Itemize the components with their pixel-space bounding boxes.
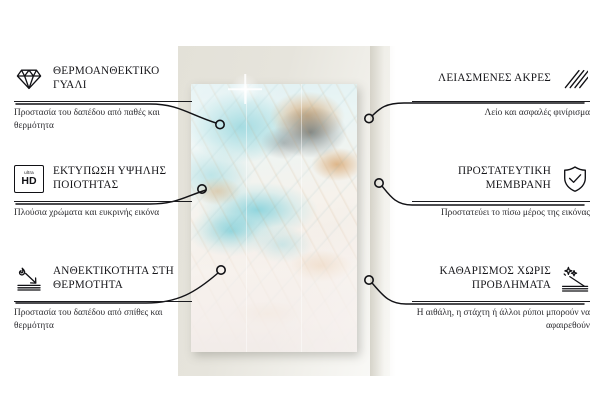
feature-title: ΑΝΘΕΚΤΙΚΟΤΗΤΑ ΣΤΗ ΘΕΡΜΟΤΗΤΑ bbox=[53, 265, 192, 293]
artwork-glass-sheen bbox=[191, 84, 357, 352]
shield-check-icon bbox=[560, 164, 590, 194]
divider bbox=[14, 201, 192, 202]
feature-title: ΕΚΤΥΠΩΣΗ ΥΨΗΛΗΣ ΠΟΙΟΤΗΤΑΣ bbox=[53, 165, 192, 193]
divider bbox=[412, 201, 590, 202]
feature-header: ΑΝΘΕΚΤΙΚΟΤΗΤΑ ΣΤΗ ΘΕΡΜΟΤΗΤΑ bbox=[14, 262, 192, 296]
divider bbox=[14, 101, 192, 102]
diamond-icon bbox=[14, 64, 44, 94]
feature-body: Πλούσια χρώματα και ευκρινής εικόνα bbox=[14, 207, 192, 220]
feature-title: ΛΕΙΑΣΜΕΝΕΣ ΑΚΡΕΣ bbox=[438, 72, 551, 86]
feature-title: ΘΕΡΜΟΑΝΘΕΚΤΙΚΟ ΓΥΑΛΙ bbox=[53, 65, 192, 93]
divider bbox=[412, 301, 590, 302]
infographic-canvas: ΘΕΡΜΟΑΝΘΕΚΤΙΚΟ ΓΥΑΛΙ Προστασία του δαπέδ… bbox=[0, 0, 600, 400]
ultra-hd-badge-main: HD bbox=[21, 176, 36, 187]
heat-deflect-icon bbox=[14, 264, 44, 294]
feature-high-quality-print: ultra HD ΕΚΤΥΠΩΣΗ ΥΨΗΛΗΣ ΠΟΙΟΤΗΤΑΣ Πλούσ… bbox=[14, 162, 192, 220]
feature-header: ultra HD ΕΚΤΥΠΩΣΗ ΥΨΗΛΗΣ ΠΟΙΟΤΗΤΑΣ bbox=[14, 162, 192, 196]
feature-body: Προστασία του δαπέδου από παθές και θερμ… bbox=[14, 107, 192, 133]
feature-heatproof-glass: ΘΕΡΜΟΑΝΘΕΚΤΙΚΟ ΓΥΑΛΙ Προστασία του δαπέδ… bbox=[14, 62, 192, 133]
ultra-hd-badge-icon: ultra HD bbox=[14, 164, 44, 194]
polished-edges-icon bbox=[560, 64, 590, 94]
feature-easy-cleaning: ΚΑΘΑΡΙΣΜΟΣ ΧΩΡΙΣ ΠΡΟΒΛΗΜΑΤΑ Η αιθάλη, η … bbox=[412, 262, 590, 333]
feature-body: Προστατεύει το πίσω μέρος της εικόνας bbox=[412, 207, 590, 220]
feature-protective-film: ΠΡΟΣΤΑΤΕΥΤΙΚΗ ΜΕΜΒΡΑΝΗ Προστατεύει το πί… bbox=[412, 162, 590, 220]
feature-header: ΛΕΙΑΣΜΕΝΕΣ ΑΚΡΕΣ bbox=[412, 62, 590, 96]
feature-header: ΘΕΡΜΟΑΝΘΕΚΤΙΚΟ ΓΥΑΛΙ bbox=[14, 62, 192, 96]
wall-panel-shadow bbox=[370, 46, 396, 376]
divider bbox=[14, 301, 192, 302]
sparkle-clean-icon bbox=[560, 264, 590, 294]
feature-title: ΠΡΟΣΤΑΤΕΥΤΙΚΗ ΜΕΜΒΡΑΝΗ bbox=[412, 165, 551, 193]
divider bbox=[412, 101, 590, 102]
feature-body: Προστασία του δαπέδου από σπίθες και θερ… bbox=[14, 307, 192, 333]
product-artwork bbox=[191, 84, 357, 352]
feature-body: Η αιθάλη, η στάχτη ή άλλοι ρύποι μπορούν… bbox=[412, 307, 590, 333]
artwork-panel-seam bbox=[301, 84, 302, 352]
feature-header: ΚΑΘΑΡΙΣΜΟΣ ΧΩΡΙΣ ΠΡΟΒΛΗΜΑΤΑ bbox=[412, 262, 590, 296]
feature-title: ΚΑΘΑΡΙΣΜΟΣ ΧΩΡΙΣ ΠΡΟΒΛΗΜΑΤΑ bbox=[412, 265, 551, 293]
feature-body: Λείο και ασφαλές φινίρισμα bbox=[412, 107, 590, 120]
feature-header: ΠΡΟΣΤΑΤΕΥΤΙΚΗ ΜΕΜΒΡΑΝΗ bbox=[412, 162, 590, 196]
feature-polished-edges: ΛΕΙΑΣΜΕΝΕΣ ΑΚΡΕΣ Λείο και ασφαλές φινίρι… bbox=[412, 62, 590, 120]
feature-heat-resistance: ΑΝΘΕΚΤΙΚΟΤΗΤΑ ΣΤΗ ΘΕΡΜΟΤΗΤΑ Προστασία το… bbox=[14, 262, 192, 333]
artwork-panel-seam bbox=[246, 84, 247, 352]
